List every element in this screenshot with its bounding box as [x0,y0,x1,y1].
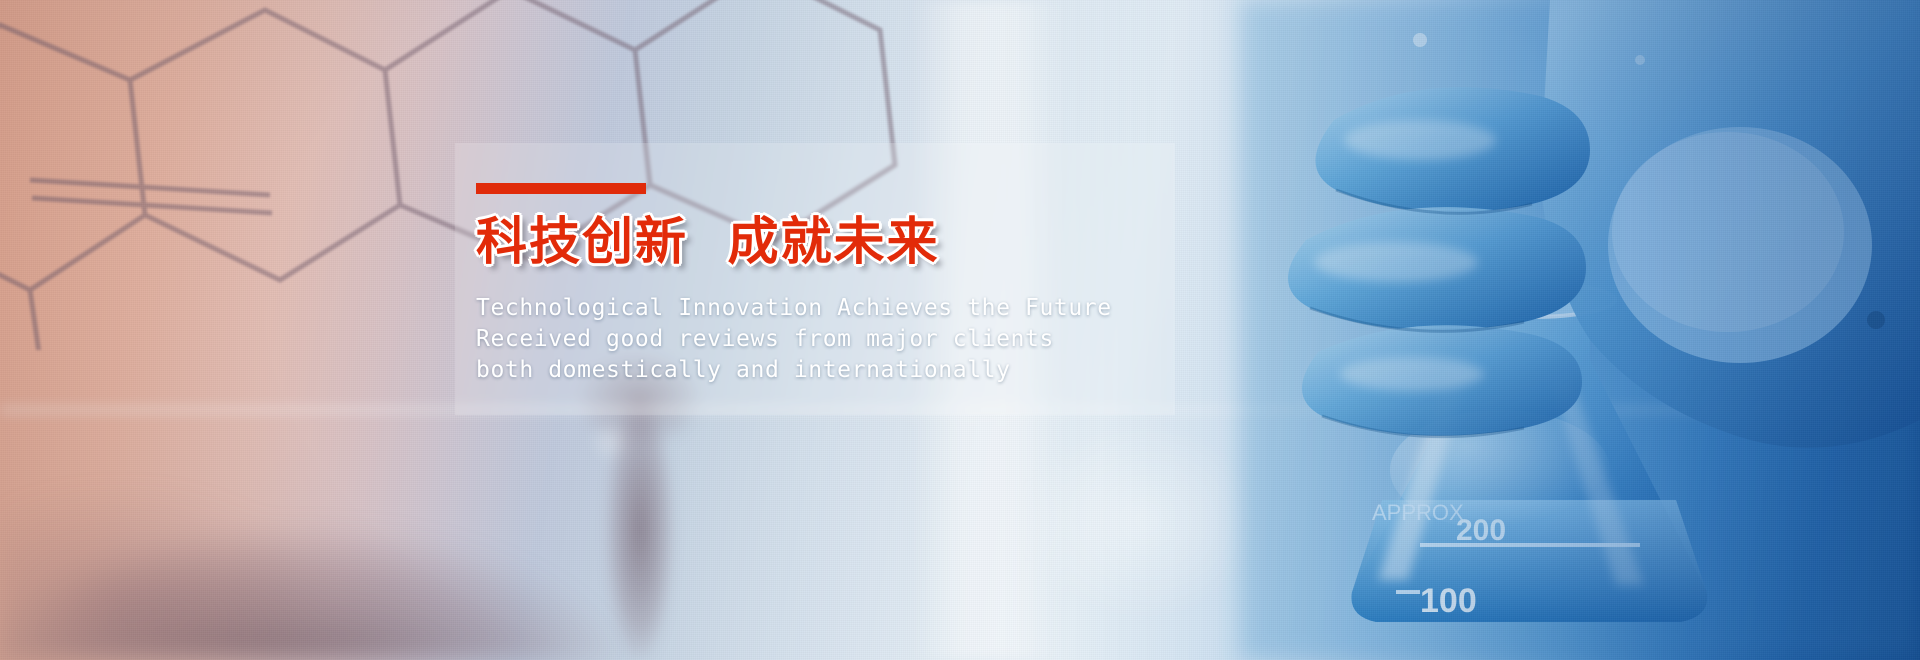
hero-banner: 200 APPROX 100 [0,0,1920,660]
red-accent-bar [476,183,646,194]
gloved-hand-flask-icon: 200 APPROX 100 [1120,0,1920,660]
page-title: 科技创新 成就未来 [476,216,1196,269]
svg-text:100: 100 [1420,582,1477,620]
hero-subtitle: Technological Innovation Achieves the Fu… [476,293,1196,386]
hero-content: 科技创新 成就未来 Technological Innovation Achie… [476,143,1196,386]
svg-text:200: 200 [1456,514,1506,547]
subtitle-line-1: Technological Innovation Achieves the Fu… [476,293,1196,324]
subtitle-line-2: Received good reviews from major clients [476,324,1196,355]
svg-text:APPROX: APPROX [1372,500,1464,525]
subtitle-line-3: both domestically and internationally [476,355,1196,386]
